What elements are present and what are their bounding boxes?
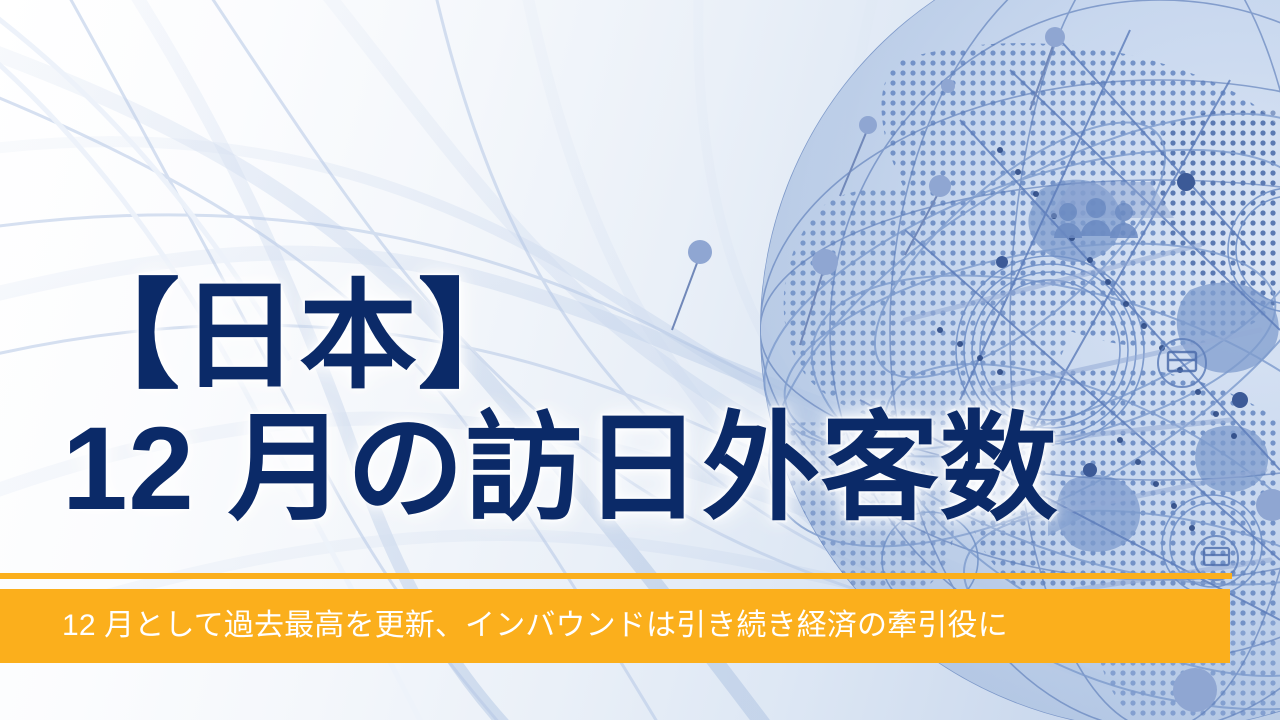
title-banner: 【日本】 12 月の訪日外客数 12 月として過去最高を更新、インバウンドは引き… [0,0,1280,720]
card-icon [1158,339,1206,387]
subtitle-band: 12 月として過去最高を更新、インバウンドは引き続き経済の牽引役に [0,589,1230,663]
page-title-line-1: 【日本】 [62,268,1082,406]
page-title-line-2: 12 月の訪日外客数 [62,400,1082,538]
headline-block: 【日本】 12 月の訪日外客数 [62,268,1082,538]
subtitle-text: 12 月として過去最高を更新、インバウンドは引き続き経済の牽引役に [0,611,1008,641]
accent-rule [0,573,1232,579]
people-icon [1048,182,1174,238]
